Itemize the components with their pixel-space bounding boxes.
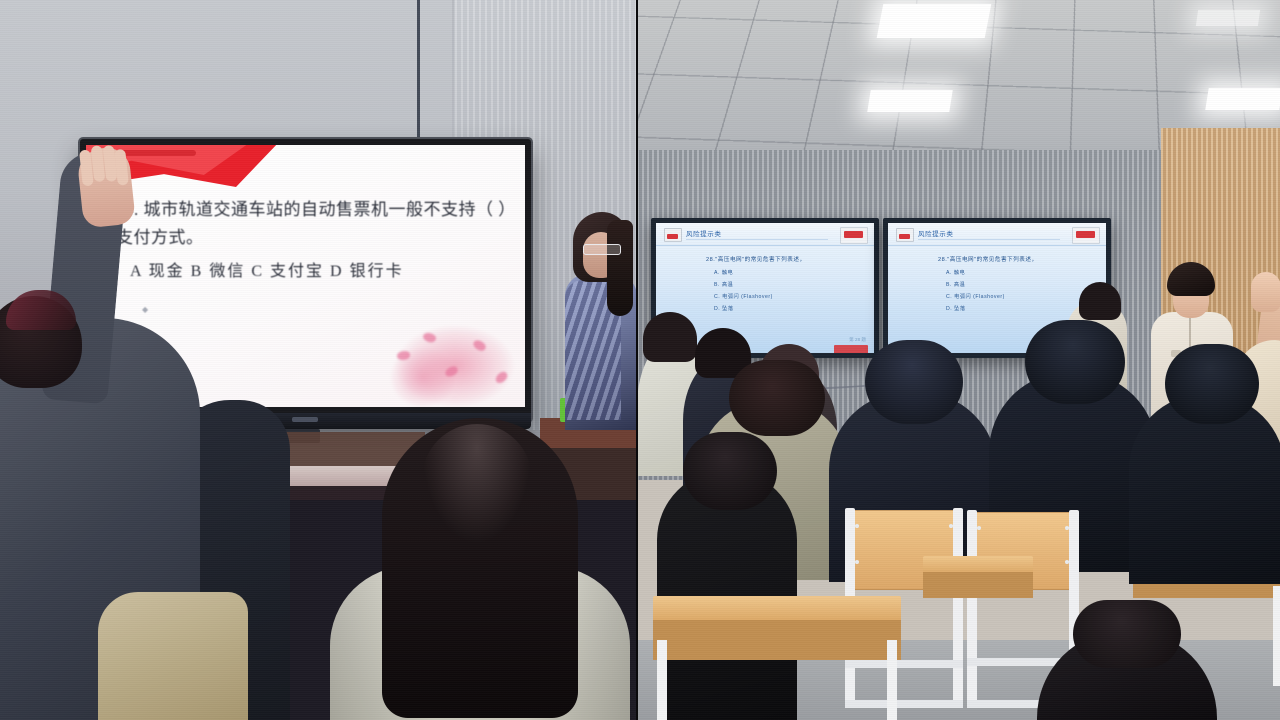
student-right-row-head xyxy=(1165,344,1259,424)
pink-petal-watermark xyxy=(375,311,525,407)
slide-question-line-2: 支付方式。 xyxy=(116,223,204,248)
slide-next-button[interactable] xyxy=(834,345,868,353)
screenshot-composite: 34. 城市轨道交通车站的自动售票机一般不支持（ ） 支付方式。 A 现金 B … xyxy=(0,0,1280,720)
slide-title-rule xyxy=(686,239,828,240)
eyeglasses-icon xyxy=(583,244,621,255)
student-desk-side xyxy=(923,572,1033,598)
student-foreground-bottom-head xyxy=(1073,600,1181,668)
chair-rail xyxy=(845,660,963,668)
student-desk-side xyxy=(653,620,901,660)
raised-hand-icon xyxy=(1251,272,1280,312)
ceiling-lamp-icon xyxy=(1205,88,1280,110)
student-back-row-head xyxy=(1079,282,1121,320)
classroom-frame-right: 风险提示类 28."高压电网"的常见危害下列表述， A. 触电 B. 高温 C.… xyxy=(637,0,1280,720)
slide-option-d: D. 坠落 xyxy=(714,305,734,312)
student-foreground-left-head xyxy=(683,432,777,510)
slide-option-c: C. 电弧闪 (Flashover) xyxy=(714,293,773,300)
student-standing-glasses xyxy=(563,212,637,430)
slide-option-b: B. 高温 xyxy=(946,281,965,288)
student-navy-jacket-head xyxy=(865,340,963,424)
student-desk-leg xyxy=(657,640,667,720)
slide-question-stem: 28."高压电网"的常见危害下列表述， xyxy=(938,255,1038,263)
chair-post-right xyxy=(953,508,963,704)
student-center-row-head xyxy=(1025,320,1125,404)
whiteboard-brand-strip xyxy=(292,417,318,422)
slide-option-a: A. 触电 xyxy=(714,269,733,276)
laptop-logo-icon xyxy=(840,227,868,244)
teacher-hair xyxy=(1167,262,1215,296)
student-desk-top xyxy=(653,596,901,622)
student-left-edge-head xyxy=(643,312,697,362)
slide-question-stem: 28."高压电网"的常见危害下列表述， xyxy=(706,255,806,263)
classroom-frame-left: 34. 城市轨道交通车站的自动售票机一般不支持（ ） 支付方式。 A 现金 B … xyxy=(0,0,637,720)
slide-option-b: B. 高温 xyxy=(714,281,733,288)
student-long-hair-highlight xyxy=(422,424,532,544)
student-desk-leg xyxy=(1273,586,1280,686)
slide-option-a: A. 触电 xyxy=(946,269,965,276)
slide-option-c: C. 电弧闪 (Flashover) xyxy=(946,293,1005,300)
book-icon xyxy=(896,228,914,242)
student-long-hair-foreground xyxy=(330,418,630,720)
ceiling-lamp-icon xyxy=(867,90,952,112)
student-foreground-trousers xyxy=(98,592,248,720)
laptop-logo-icon xyxy=(1072,227,1100,244)
student-desk-leg xyxy=(887,640,897,720)
student-standing-hair-side xyxy=(607,220,633,316)
slide-option-d: D. 坠落 xyxy=(946,305,966,312)
wall-seam-light xyxy=(452,0,454,150)
slide-title: 风险提示类 xyxy=(918,228,954,238)
chair-foot-rail xyxy=(845,700,963,708)
book-icon xyxy=(664,228,682,242)
slide-footer: 第 28 题 xyxy=(849,337,866,343)
panel-divider xyxy=(636,0,638,720)
wall-seam-dark xyxy=(417,0,420,150)
slide-title: 风险提示类 xyxy=(686,228,722,238)
ceiling-lamp-icon xyxy=(877,4,992,38)
slide-title-rule xyxy=(918,239,1060,240)
slide-question-line-1: 34. 城市轨道交通车站的自动售票机一般不支持（ ） xyxy=(116,195,516,220)
slide-mark: ◆ xyxy=(142,305,149,314)
slide-options: A 现金 B 微信 C 支付宝 D 银行卡 xyxy=(130,257,404,281)
chair-post-left xyxy=(967,510,977,706)
student-curly-hair-head xyxy=(729,360,825,436)
ceiling-lamp-icon xyxy=(1196,10,1260,26)
